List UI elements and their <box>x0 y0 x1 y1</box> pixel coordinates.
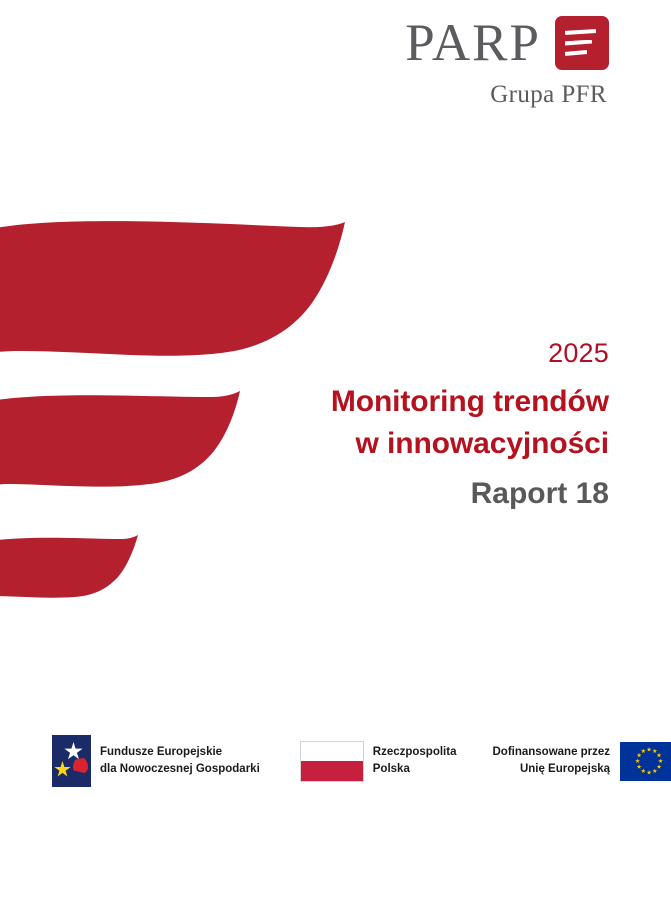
rp-line-1: Rzeczpospolita <box>373 744 457 761</box>
logo-dofinansowane-przez-unie-europejska: Dofinansowane przez Unię Europejską <box>492 742 671 781</box>
parp-mark-bar-2 <box>565 40 592 46</box>
parp-mark-bar-3 <box>565 50 587 56</box>
eu-flag-star-3 <box>657 753 662 758</box>
eu-flag-star-6 <box>652 768 657 773</box>
parp-tagline: Grupa PFR <box>359 81 609 109</box>
eu-flag-icon <box>620 742 671 781</box>
eu-flag-star-9 <box>637 764 642 769</box>
eu-funds-star-icon <box>52 735 91 787</box>
parp-logo-mark-icon <box>555 16 609 70</box>
wave-shape-3 <box>0 535 138 598</box>
parp-brand-logo: PARP Grupa PFR <box>359 12 609 112</box>
eu-flag-star-12 <box>641 749 646 754</box>
fundusze-europejskie-text: Fundusze Europejskie dla Nowoczesnej Gos… <box>100 744 260 777</box>
eu-flag-star-2 <box>652 749 657 754</box>
eu-flag-star-11 <box>637 753 642 758</box>
rp-line-2: Polska <box>373 761 457 778</box>
cover-title-block: 2025 Monitoring trendów w innowacyjności… <box>189 338 609 513</box>
cover-title-line-1: Monitoring trendów <box>189 381 609 424</box>
eu-flag-star-5 <box>657 764 662 769</box>
cover-year: 2025 <box>189 338 609 370</box>
eu-flag-star-1 <box>647 747 652 752</box>
eu-line-1: Dofinansowane przez <box>492 744 610 761</box>
parp-mark-bar-1 <box>565 29 596 35</box>
eu-flag-star-8 <box>641 768 646 773</box>
eu-flag-star-7 <box>647 770 652 775</box>
logo-fundusze-europejskie: Fundusze Europejskie dla Nowoczesnej Gos… <box>52 735 260 787</box>
eu-flag-star-10 <box>635 759 640 764</box>
parp-logo-row: PARP <box>359 12 609 74</box>
funding-logo-strip: Fundusze Europejskie dla Nowoczesnej Gos… <box>52 730 622 792</box>
cover-title-line-2: w innowacyjności <box>189 423 609 466</box>
wave-shape-1 <box>0 221 345 356</box>
eu-flag-star-4 <box>658 759 663 764</box>
parp-wordmark: PARP <box>405 17 541 70</box>
logo-rzeczpospolita-polska: Rzeczpospolita Polska <box>300 741 457 782</box>
red-accent-shape <box>73 757 88 774</box>
fe-line-2: dla Nowoczesnej Gospodarki <box>100 761 260 778</box>
polish-flag-white-band <box>301 742 363 762</box>
white-star-icon <box>64 742 83 761</box>
yellow-star-icon <box>54 761 71 778</box>
polish-flag-red-band <box>301 761 363 781</box>
eu-line-2: Unię Europejską <box>492 761 610 778</box>
rzeczpospolita-polska-text: Rzeczpospolita Polska <box>373 744 457 777</box>
cover-report-number: Raport 18 <box>189 474 609 513</box>
fe-line-1: Fundusze Europejskie <box>100 744 260 761</box>
polish-flag-icon <box>300 741 364 782</box>
dofinansowane-text: Dofinansowane przez Unię Europejską <box>492 744 610 777</box>
cover-title: Monitoring trendów w innowacyjności <box>189 381 609 466</box>
